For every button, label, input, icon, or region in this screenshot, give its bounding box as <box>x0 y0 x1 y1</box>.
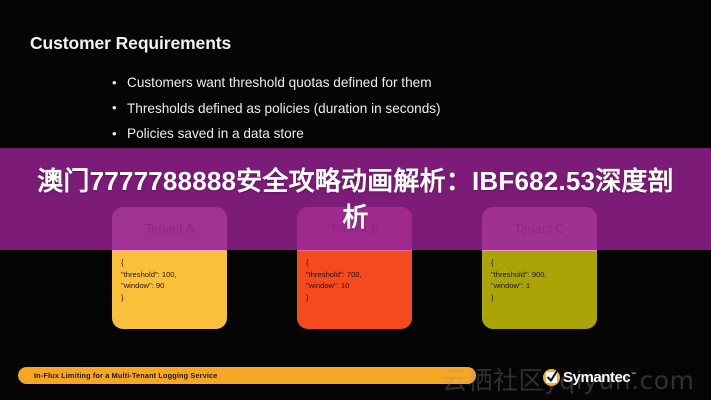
headline-overlay-text: 澳门7777788888安全攻略动画解析：IBF682.53深度剖析 <box>26 163 686 235</box>
footer-label: In-Flux Limiting for a Multi-Tenant Logg… <box>18 371 217 380</box>
tenant-b-config: { "threshold": 700, "window": 10 } <box>297 251 412 329</box>
headline-overlay-band: 澳门7777788888安全攻略动画解析：IBF682.53深度剖析 <box>0 148 711 250</box>
page-title: Customer Requirements <box>30 33 231 54</box>
symantec-wordmark: Symantec™ <box>563 369 636 386</box>
footer-bar: In-Flux Limiting for a Multi-Tenant Logg… <box>18 367 476 384</box>
slide-screenshot: Customer Requirements Customers want thr… <box>0 0 711 400</box>
check-icon <box>547 371 558 384</box>
requirements-list: Customers want threshold quotas defined … <box>112 70 441 147</box>
trademark-symbol: ™ <box>631 372 636 378</box>
checkmark-circle-icon <box>543 369 560 386</box>
symantec-word-text: Symantec <box>563 369 630 386</box>
list-item: Customers want threshold quotas defined … <box>112 70 441 96</box>
list-item: Thresholds defined as policies (duration… <box>112 96 441 122</box>
tenant-c-config: { "threshold": 900, "window": 1 } <box>482 251 597 329</box>
list-item: Policies saved in a data store <box>112 121 441 147</box>
symantec-logo: Symantec™ <box>543 369 636 386</box>
tenant-a-config: { "threshold": 100, "window": 90 } <box>112 251 227 329</box>
